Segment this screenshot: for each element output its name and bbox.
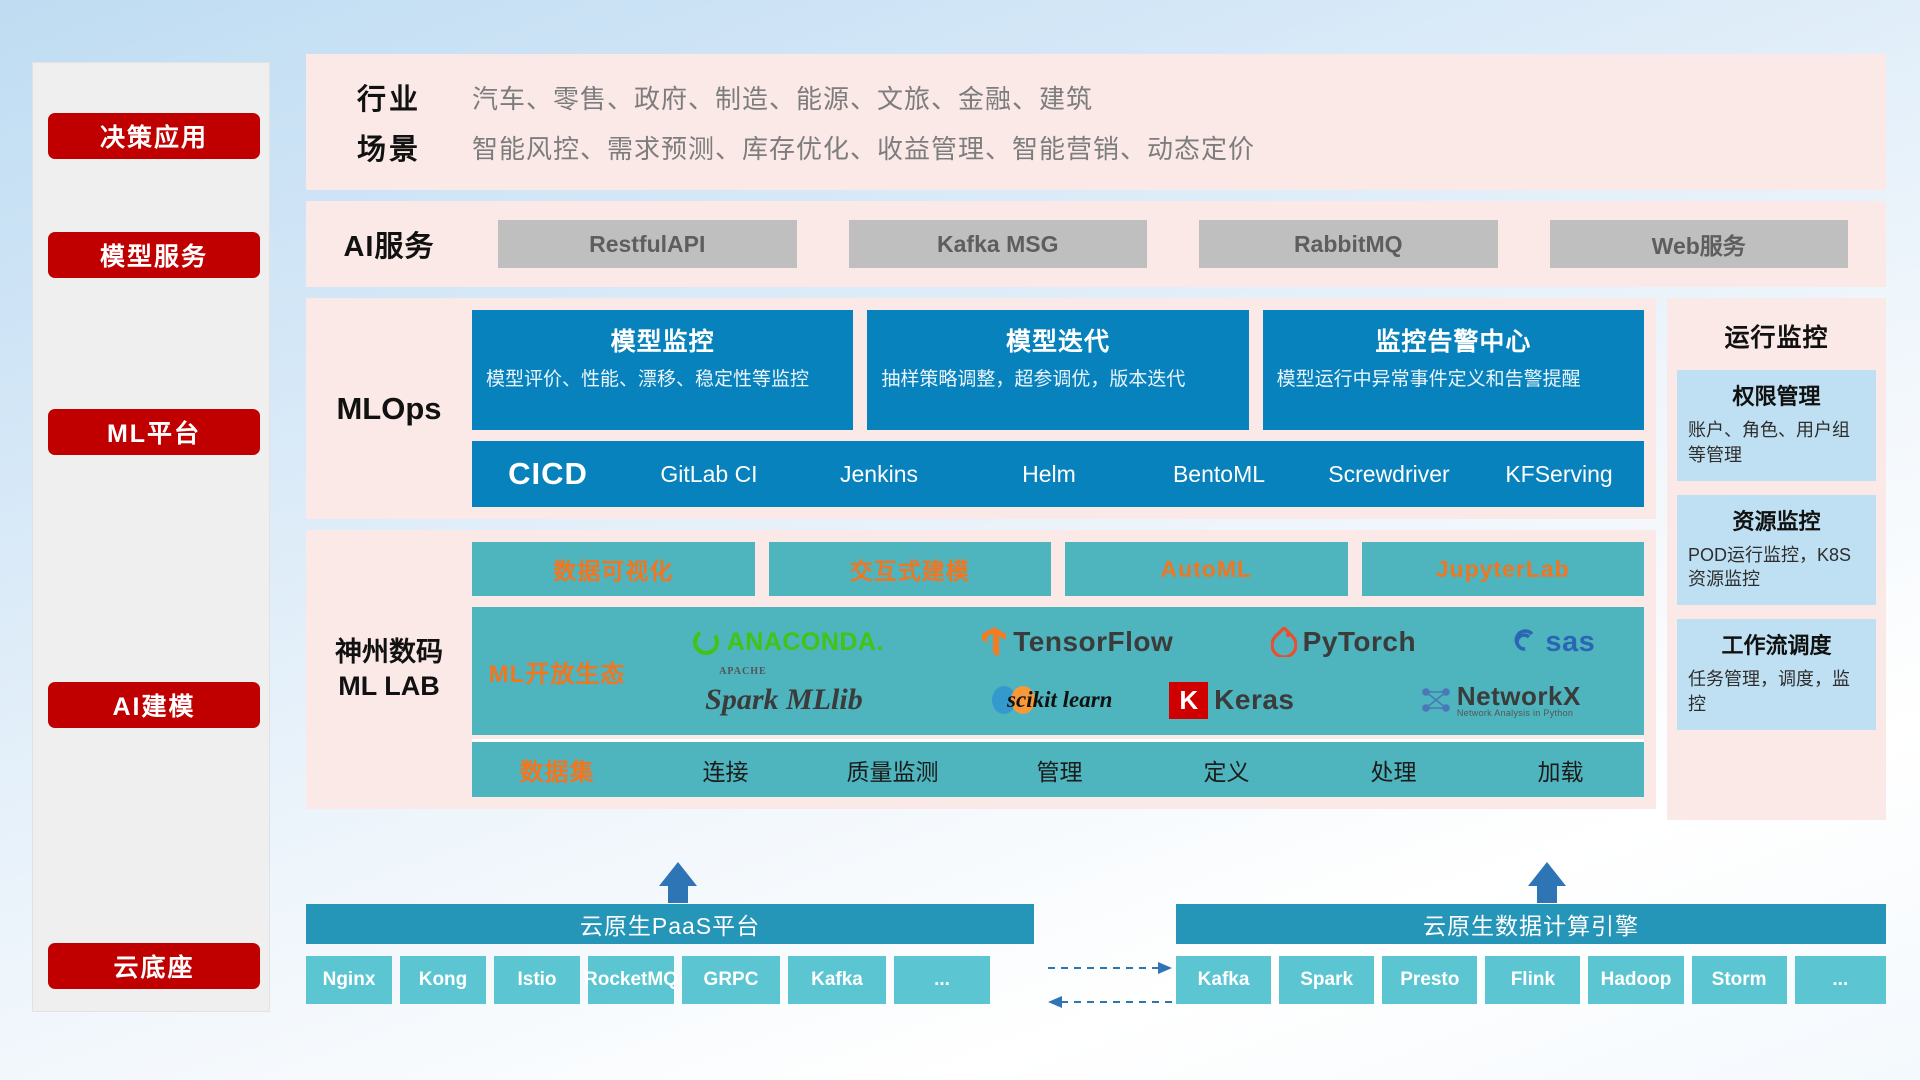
ecosystem-logo-grid: ANACONDA. TensorFlow [642,613,1644,729]
ml-open-ecosystem-label: ML开放生态 [472,654,642,689]
paas-chip-more[interactable]: ... [894,956,990,1004]
ai-service-chip-list: RestfulAPI Kafka MSG RabbitMQ Web服务 [472,220,1886,268]
cicd-item-gitlab-ci[interactable]: GitLab CI [624,461,794,487]
cloud-native-data-engine-bar[interactable]: 云原生数据计算引擎 [1176,904,1886,944]
paas-chip-kong[interactable]: Kong [400,956,486,1004]
industry-value: 汽车、零售、政府、制造、能源、文旅、金融、建筑 [472,79,1093,116]
ml-lab-tab-data-visualization[interactable]: 数据可视化 [472,542,755,596]
sidebar-card-desc: 账户、角色、用户组等管理 [1688,418,1865,468]
engine-chip-more[interactable]: ... [1795,956,1886,1004]
cloud-native-paas-bar[interactable]: 云原生PaaS平台 [306,904,1034,944]
rail-label-text: ML平台 [107,414,201,450]
cicd-item-helm[interactable]: Helm [964,461,1134,487]
pytorch-logo-text: PyTorch [1303,626,1416,658]
scenario-value: 智能风控、需求预测、库存优化、收益管理、智能营销、动态定价 [472,129,1255,166]
mlops-band: MLOps 模型监控 模型评价、性能、漂移、稳定性等监控 模型迭代 抽样策略调整… [306,298,1656,519]
sas-logo: sas [1513,626,1595,659]
mlops-card-model-monitoring[interactable]: 模型监控 模型评价、性能、漂移、稳定性等监控 [472,310,853,430]
mlops-card-desc: 模型运行中异常事件定义和告警提醒 [1277,367,1630,393]
rail-label-ml-platform[interactable]: ML平台 [48,409,260,455]
scenario-label: 场景 [306,126,472,168]
industry-row: 行业 汽车、零售、政府、制造、能源、文旅、金融、建筑 [306,72,1886,122]
rail-label-text: 模型服务 [100,237,208,273]
mlops-card-title: 监控告警中心 [1277,322,1630,358]
engine-chip-hadoop[interactable]: Hadoop [1588,956,1683,1004]
rail-label-cloud-base[interactable]: 云底座 [48,943,260,989]
architecture-diagram: 决策应用 模型服务 ML平台 AI建模 云底座 行业 汽车、零售、政府、制造、能… [0,0,1920,1080]
pytorch-icon [1271,627,1297,657]
rail-label-text: 云底座 [113,948,194,984]
mlops-card-list: 模型监控 模型评价、性能、漂移、稳定性等监控 模型迭代 抽样策略调整，超参调优，… [472,310,1644,430]
sidebar-card-permission-management[interactable]: 权限管理 账户、角色、用户组等管理 [1677,370,1876,481]
anaconda-logo: ANACONDA. [691,627,884,657]
mlops-card-desc: 抽样策略调整，超参调优，版本迭代 [881,367,1234,393]
ml-lab-title-line1: 神州数码 [335,636,443,670]
platform-left-column: MLOps 模型监控 模型评价、性能、漂移、稳定性等监控 模型迭代 抽样策略调整… [306,298,1656,820]
dataset-item-manage[interactable]: 管理 [976,753,1143,787]
ai-service-band: AI服务 RestfulAPI Kafka MSG RabbitMQ Web服务 [306,201,1886,287]
sidebar-card-desc: POD运行监控，K8S资源监控 [1688,543,1865,593]
cloud-native-data-engine-title: 云原生数据计算引擎 [1423,907,1639,941]
cicd-label: CICD [472,456,624,492]
sas-logo-text: sas [1545,626,1595,659]
bidirectional-link-icon [1046,960,1176,1012]
monitoring-sidebar-title: 运行监控 [1677,318,1876,354]
mlops-card-model-iteration[interactable]: 模型迭代 抽样策略调整，超参调优，版本迭代 [867,310,1248,430]
rail-label-model-service[interactable]: 模型服务 [48,232,260,278]
decision-app-band: 行业 汽车、零售、政府、制造、能源、文旅、金融、建筑 场景 智能风控、需求预测、… [306,54,1886,190]
ml-lab-content: 数据可视化 交互式建模 AutoML JupyterLab ML开放生态 [472,542,1656,797]
paas-chip-nginx[interactable]: Nginx [306,956,392,1004]
paas-chip-rocketmq[interactable]: RocketMQ [588,956,674,1004]
tensorflow-logo-text: TensorFlow [1013,626,1173,658]
mlops-content: 模型监控 模型评价、性能、漂移、稳定性等监控 模型迭代 抽样策略调整，超参调优，… [472,310,1656,507]
rail-label-text: 决策应用 [100,118,208,154]
networkx-logo-text: NetworkX [1457,683,1581,709]
ai-service-chip-kafka-msg[interactable]: Kafka MSG [849,220,1148,268]
engine-chip-kafka[interactable]: Kafka [1176,956,1271,1004]
ecosystem-logo-row-2: APACHE Spark MLlib [642,671,1644,729]
ml-lab-tab-jupyterlab[interactable]: JupyterLab [1362,542,1645,596]
spark-mllib-text: Spark MLlib [705,683,863,716]
dataset-item-quality-monitoring[interactable]: 质量监测 [809,753,976,787]
platform-split: MLOps 模型监控 模型评价、性能、漂移、稳定性等监控 模型迭代 抽样策略调整… [306,298,1886,820]
ml-lab-title: 神州数码 ML LAB [306,542,472,797]
sidebar-card-resource-monitoring[interactable]: 资源监控 POD运行监控，K8S资源监控 [1677,495,1876,606]
cicd-item-kfserving[interactable]: KFServing [1474,461,1644,487]
dataset-item-load[interactable]: 加载 [1477,753,1644,787]
sidebar-card-title: 资源监控 [1688,504,1865,536]
spark-logo-text: APACHE Spark MLlib [705,683,863,717]
networkx-icon [1421,686,1451,714]
ml-lab-tab-automl[interactable]: AutoML [1065,542,1348,596]
rail-label-text: AI建模 [112,687,195,723]
ml-lab-band: 神州数码 ML LAB 数据可视化 交互式建模 AutoML JupyterLa… [306,530,1656,809]
cicd-bar: CICD GitLab CI Jenkins Helm BentoML Scre… [472,441,1644,507]
monitoring-sidebar-panel: 运行监控 权限管理 账户、角色、用户组等管理 资源监控 POD运行监控，K8S资… [1667,298,1886,820]
paas-chip-istio[interactable]: Istio [494,956,580,1004]
ai-service-chip-web-service[interactable]: Web服务 [1550,220,1849,268]
anaconda-icon [691,627,721,657]
rail-label-ai-modeling[interactable]: AI建模 [48,682,260,728]
ai-service-chip-rabbitmq[interactable]: RabbitMQ [1199,220,1498,268]
networkx-subtitle: Network Analysis in Python [1457,709,1581,718]
pytorch-logo: PyTorch [1271,626,1416,658]
engine-arrow-head-icon [1528,862,1566,886]
dataset-item-define[interactable]: 定义 [1143,753,1310,787]
sidebar-card-workflow-scheduling[interactable]: 工作流调度 任务管理，调度，监控 [1677,619,1876,730]
cicd-item-screwdriver[interactable]: Screwdriver [1304,461,1474,487]
ecosystem-logo-row-1: ANACONDA. TensorFlow [642,613,1644,671]
mlops-card-title: 模型迭代 [881,322,1234,358]
engine-arrow-stem-icon [1537,885,1557,903]
scikit-learn-logo-text: scikit learn [1007,687,1112,713]
engine-chip-storm[interactable]: Storm [1692,956,1787,1004]
keras-logo: K Keras [1169,682,1294,719]
networkx-logo: NetworkX Network Analysis in Python [1421,683,1581,718]
dataset-label: 数据集 [472,752,642,787]
ml-lab-tab-interactive-modeling[interactable]: 交互式建模 [769,542,1052,596]
industry-label: 行业 [306,76,472,118]
keras-logo-text: Keras [1214,684,1294,716]
spark-mllib-logo: APACHE Spark MLlib [705,683,863,717]
scikit-learn-logo: scikit learn [989,685,1043,715]
sidebar-card-title: 权限管理 [1688,379,1865,411]
paas-chip-row: Nginx Kong Istio RocketMQ GRPC Kafka ... [306,956,1034,1004]
ml-lab-title-line2: ML LAB [338,670,440,704]
tensorflow-logo: TensorFlow [981,626,1173,658]
anaconda-logo-text: ANACONDA. [727,628,884,657]
scenario-row: 场景 智能风控、需求预测、库存优化、收益管理、智能营销、动态定价 [306,122,1886,172]
dataset-item-process[interactable]: 处理 [1310,753,1477,787]
mlops-card-alert-center[interactable]: 监控告警中心 模型运行中异常事件定义和告警提醒 [1263,310,1644,430]
paas-chip-kafka[interactable]: Kafka [788,956,886,1004]
ml-lab-tab-list: 数据可视化 交互式建模 AutoML JupyterLab [472,542,1644,596]
engine-chip-row: Kafka Spark Presto Flink Hadoop Storm ..… [1176,956,1886,1004]
mlops-card-desc: 模型评价、性能、漂移、稳定性等监控 [486,367,839,393]
spark-apache-label: APACHE [719,666,766,677]
ai-service-chip-restfulapi[interactable]: RestfulAPI [498,220,797,268]
main-column: 行业 汽车、零售、政府、制造、能源、文旅、金融、建筑 场景 智能风控、需求预测、… [306,54,1886,820]
dataset-item-connect[interactable]: 连接 [642,753,809,787]
cloud-native-paas-title: 云原生PaaS平台 [580,907,760,941]
ml-open-ecosystem-block: ML开放生态 ANACONDA. [472,607,1644,735]
cloud-base-layer: 云原生PaaS平台 Nginx Kong Istio RocketMQ GRPC… [306,888,1886,1048]
mlops-title: MLOps [306,310,472,507]
tensorflow-icon [981,626,1007,658]
dataset-bar: 数据集 连接 质量监测 管理 定义 处理 加载 [472,739,1644,797]
sidebar-card-title: 工作流调度 [1688,628,1865,660]
monitoring-sidebar: 运行监控 权限管理 账户、角色、用户组等管理 资源监控 POD运行监控，K8S资… [1667,298,1886,820]
engine-chip-flink[interactable]: Flink [1485,956,1580,1004]
cicd-item-bentoml[interactable]: BentoML [1134,461,1304,487]
paas-chip-grpc[interactable]: GRPC [682,956,780,1004]
sidebar-card-desc: 任务管理，调度，监控 [1688,667,1865,717]
keras-icon: K [1169,682,1208,719]
engine-chip-spark[interactable]: Spark [1279,956,1374,1004]
paas-arrow-head-icon [659,862,697,886]
engine-chip-presto[interactable]: Presto [1382,956,1477,1004]
mlops-card-title: 模型监控 [486,322,839,358]
left-rail-panel [32,62,270,1012]
rail-label-decision-app[interactable]: 决策应用 [48,113,260,159]
paas-arrow-stem-icon [668,885,688,903]
sas-icon [1513,629,1539,655]
cicd-item-jenkins[interactable]: Jenkins [794,461,964,487]
ai-service-title: AI服务 [306,223,472,265]
